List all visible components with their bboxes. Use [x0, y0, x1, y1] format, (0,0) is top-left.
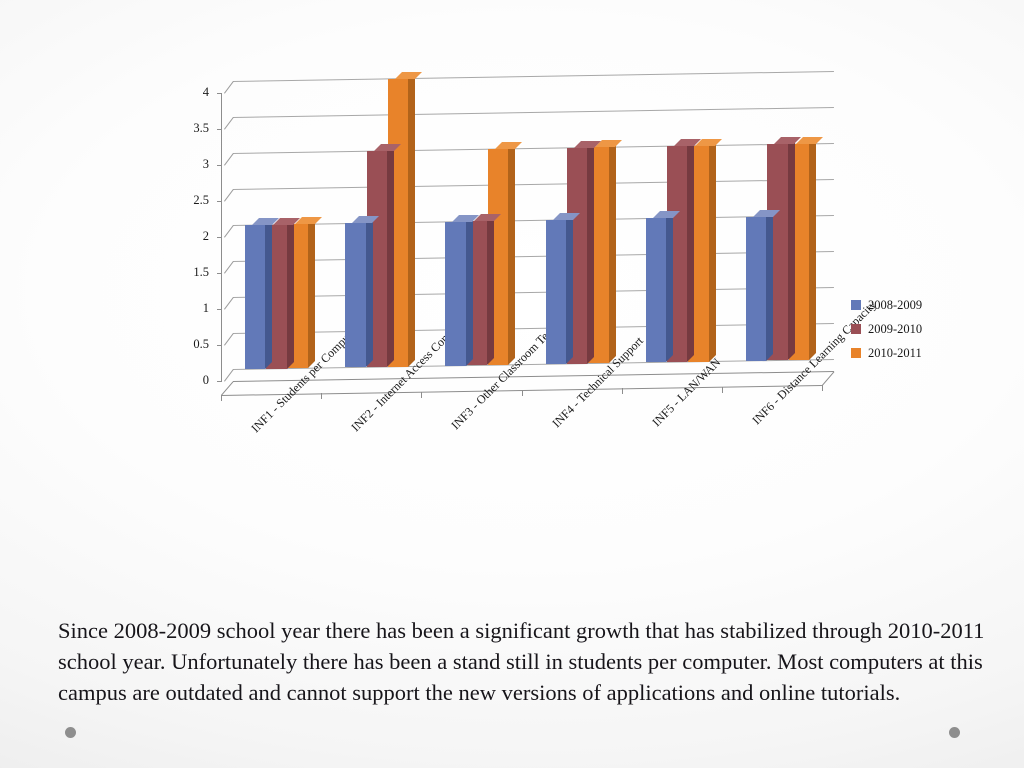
- bar-side-face: [687, 139, 694, 362]
- gridline: [233, 71, 834, 82]
- bar-side-face: [666, 211, 673, 362]
- y-axis-tick-label: 2.5: [169, 194, 209, 207]
- gridline: [233, 143, 834, 154]
- bar-3-2008-2009[interactable]: [445, 222, 465, 366]
- bar-side-face: [366, 216, 373, 367]
- y-axis-tick-label: 2: [169, 230, 209, 243]
- bar-front-face: [245, 225, 265, 369]
- category-axis-tick: [622, 388, 623, 394]
- gridline: [233, 287, 834, 298]
- bar-side-face: [587, 141, 594, 364]
- legend-item-2010-2011[interactable]: 2010-2011: [851, 341, 971, 365]
- gridline: [233, 107, 834, 118]
- gridline: [233, 323, 834, 334]
- bar-side-face: [709, 139, 716, 362]
- plot-area: 00.511.522.533.54: [150, 55, 870, 400]
- category-axis-tick: [321, 393, 322, 399]
- category-axis-tick: [221, 395, 222, 401]
- bar-side-face: [809, 137, 816, 360]
- gridline-riser: [224, 225, 234, 238]
- gridline-riser: [224, 81, 234, 94]
- bar-2-2008-2009[interactable]: [345, 223, 365, 367]
- bar-chart[interactable]: 00.511.522.533.54 INF1 - Students per Co…: [150, 55, 870, 400]
- legend-swatch-icon: [851, 324, 861, 334]
- legend-label: 2008-2009: [868, 298, 922, 313]
- bar-side-face: [265, 218, 272, 369]
- y-axis-tick-label: 0.5: [169, 338, 209, 351]
- gridline: [233, 215, 834, 226]
- y-axis-tick-label: 1: [169, 302, 209, 315]
- gridline-riser: [224, 333, 234, 346]
- bar-side-face: [788, 137, 795, 360]
- category-axis-tick: [421, 392, 422, 398]
- y-axis-tick-label: 3.5: [169, 122, 209, 135]
- gridline: [233, 251, 834, 262]
- bar-front-face: [646, 218, 666, 362]
- bar-6-2008-2009[interactable]: [746, 217, 766, 361]
- bar-side-face: [408, 72, 415, 367]
- bar-side-face: [609, 140, 616, 363]
- category-axis-tick: [522, 390, 523, 396]
- legend-swatch-icon: [851, 300, 861, 310]
- legend-swatch-icon: [851, 348, 861, 358]
- slide-canvas: 00.511.522.533.54 INF1 - Students per Co…: [0, 0, 1024, 768]
- bar-side-face: [387, 144, 394, 367]
- legend-label: 2009-2010: [868, 322, 922, 337]
- bar-side-face: [466, 215, 473, 366]
- bar-4-2008-2009[interactable]: [546, 220, 566, 364]
- category-axis-tick: [722, 387, 723, 393]
- gridline-riser: [224, 297, 234, 310]
- bar-side-face: [566, 213, 573, 364]
- footer-decoration-dot-right: [949, 727, 960, 738]
- y-axis-tick-label: 1.5: [169, 266, 209, 279]
- gridline: [233, 179, 834, 190]
- legend-item-2008-2009[interactable]: 2008-2009: [851, 293, 971, 317]
- y-axis-tick: [217, 381, 222, 382]
- bar-side-face: [287, 218, 294, 369]
- bar-side-face: [766, 210, 773, 361]
- category-axis-tick: [822, 385, 823, 391]
- bar-side-face: [508, 142, 515, 365]
- gridline-riser: [224, 189, 234, 202]
- legend-item-2009-2010[interactable]: 2009-2010: [851, 317, 971, 341]
- bar-1-2008-2009[interactable]: [245, 225, 265, 369]
- gridline-riser: [224, 261, 234, 274]
- gridline-riser: [224, 153, 234, 166]
- chart-legend[interactable]: 2008-20092009-20102010-2011: [851, 293, 971, 365]
- y-axis-tick-label: 3: [169, 158, 209, 171]
- bar-5-2008-2009[interactable]: [646, 218, 666, 362]
- gridline-riser: [224, 117, 234, 130]
- y-axis-line: [221, 93, 222, 381]
- bar-side-face: [487, 214, 494, 365]
- body-paragraph: Since 2008-2009 school year there has be…: [58, 615, 993, 708]
- bar-front-face: [345, 223, 365, 367]
- bar-front-face: [445, 222, 465, 366]
- floor-right-edge: [822, 371, 835, 386]
- bar-side-face: [308, 217, 315, 368]
- bar-front-face: [546, 220, 566, 364]
- y-axis-tick-label: 4: [169, 86, 209, 99]
- y-axis-tick-label: 0: [169, 374, 209, 387]
- floor-back-edge: [233, 371, 834, 382]
- floor-left-edge: [221, 381, 234, 396]
- footer-decoration-dot-left: [65, 727, 76, 738]
- bar-front-face: [746, 217, 766, 361]
- legend-label: 2010-2011: [868, 346, 922, 361]
